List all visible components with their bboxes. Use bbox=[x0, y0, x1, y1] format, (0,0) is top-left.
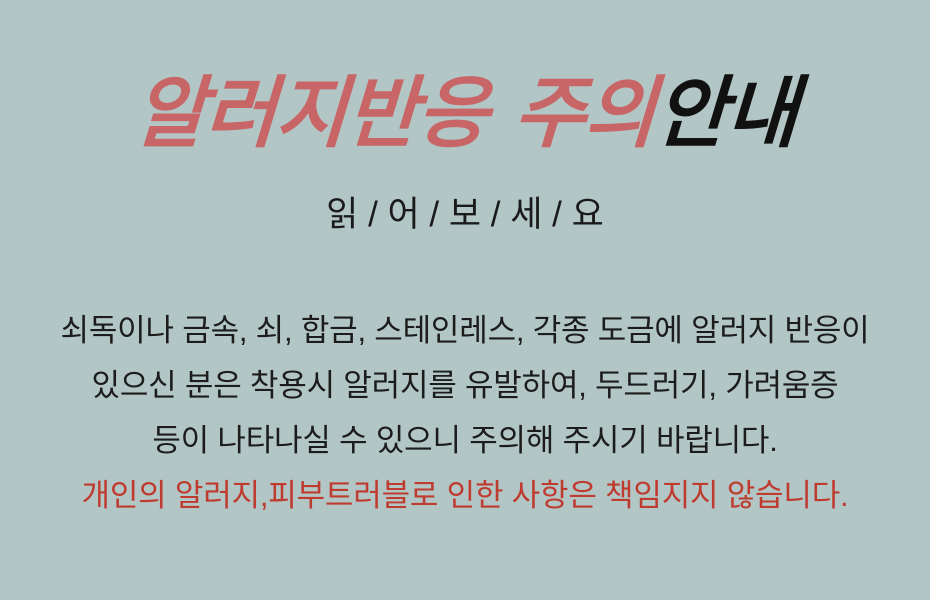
allergy-notice-card: 알러지반응주의안내 읽 / 어 / 보 / 세 / 요 쇠독이나 금속, 쇠, … bbox=[0, 0, 930, 600]
notice-body-line: 쇠독이나 금속, 쇠, 합금, 스테인레스, 각종 도금에 알러지 반응이 bbox=[15, 303, 915, 358]
page-title-accent: 알러지반응 bbox=[131, 69, 489, 157]
notice-body-line: 등이 나타나실 수 있으니 주의해 주시기 바랍니다. bbox=[15, 413, 915, 468]
page-title-inner: 알러지반응주의안내 bbox=[132, 74, 799, 152]
notice-body-line: 있으신 분은 착용시 알러지를 유발하여, 두드러기, 가려움증 bbox=[15, 358, 915, 413]
page-title-main: 주의 bbox=[511, 69, 657, 157]
page-title: 알러지반응주의안내 bbox=[0, 74, 930, 152]
page-subtitle: 읽 / 어 / 보 / 세 / 요 bbox=[0, 193, 930, 237]
page-subtitle-text: 읽 / 어 / 보 / 세 / 요 bbox=[326, 195, 604, 234]
page-title-emphasis: 안내 bbox=[653, 69, 799, 157]
notice-body-line-warning: 개인의 알러지,피부트러블로 인한 사항은 책임지지 않습니다. bbox=[15, 468, 915, 523]
notice-body: 쇠독이나 금속, 쇠, 합금, 스테인레스, 각종 도금에 알러지 반응이 있으… bbox=[15, 303, 915, 523]
